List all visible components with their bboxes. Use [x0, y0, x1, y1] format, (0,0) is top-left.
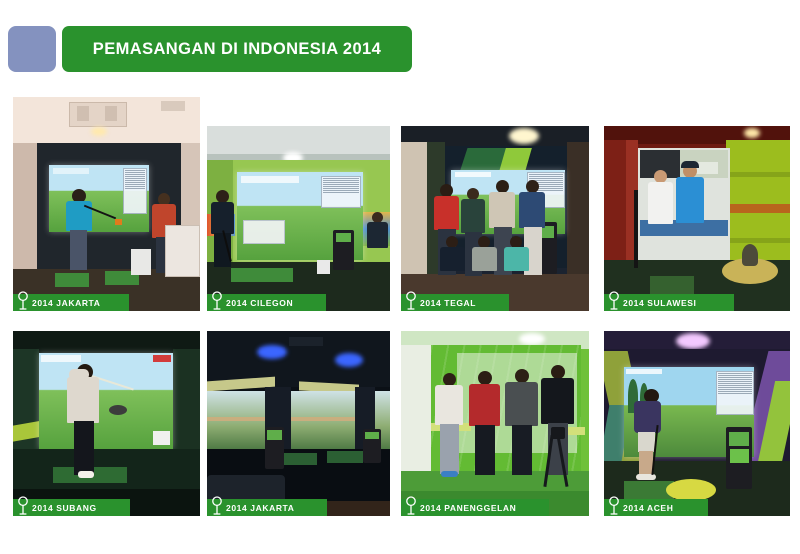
- header-title-bar: PEMASANGAN DI INDONESIA 2014: [62, 26, 412, 72]
- photo-caption-7: 2014 PANENGGELAN: [401, 499, 549, 516]
- photo-image-5: [13, 331, 200, 516]
- photo-caption-label-3: 2014 TEGAL: [420, 298, 476, 308]
- photo-caption-label-4: 2014 SULAWESI: [623, 298, 696, 308]
- photo-caption-3: 2014 TEGAL: [401, 294, 509, 311]
- golf-tee-icon: [608, 496, 620, 515]
- photo-caption-label-6: 2014 JAKARTA: [226, 503, 294, 513]
- photo-caption-label-5: 2014 SUBANG: [32, 503, 97, 513]
- photo-caption-5: 2014 SUBANG: [13, 499, 130, 516]
- golf-tee-icon: [17, 496, 29, 515]
- photo-card-4[interactable]: 2014 SULAWESI: [604, 126, 790, 311]
- photo-caption-1: 2014 JAKARTA: [13, 294, 129, 311]
- photo-card-3[interactable]: 2014 TEGAL: [401, 126, 589, 311]
- photo-image-4: [604, 126, 790, 311]
- photo-card-5[interactable]: 2014 SUBANG: [13, 331, 200, 516]
- photo-card-2[interactable]: 2014 CILEGON: [207, 126, 390, 311]
- photo-caption-4: 2014 SULAWESI: [604, 294, 734, 311]
- photo-caption-label-2: 2014 CILEGON: [226, 298, 293, 308]
- photo-image-2: [207, 126, 390, 311]
- photo-image-6: [207, 331, 390, 516]
- photo-image-3: [401, 126, 589, 311]
- golf-tee-icon: [17, 291, 29, 310]
- golf-tee-icon: [211, 496, 223, 515]
- photo-caption-2: 2014 CILEGON: [207, 294, 326, 311]
- photo-image-7: [401, 331, 589, 516]
- photo-caption-label-8: 2014 ACEH: [623, 503, 673, 513]
- photo-card-1[interactable]: 2014 JAKARTA: [13, 97, 200, 311]
- photo-caption-8: 2014 ACEH: [604, 499, 708, 516]
- photo-image-1: [13, 97, 200, 311]
- photo-image-8: [604, 331, 790, 516]
- photo-card-7[interactable]: 2014 PANENGGELAN: [401, 331, 589, 516]
- page-title: PEMASANGAN DI INDONESIA 2014: [93, 40, 381, 59]
- golf-tee-icon: [405, 496, 417, 515]
- photo-card-6[interactable]: 2014 JAKARTA: [207, 331, 390, 516]
- photo-gallery: 2014 JAKARTA: [0, 88, 800, 538]
- header-badge-square: [8, 26, 56, 72]
- golf-tee-icon: [608, 291, 620, 310]
- photo-card-8[interactable]: 2014 ACEH: [604, 331, 790, 516]
- golf-tee-icon: [405, 291, 417, 310]
- photo-caption-6: 2014 JAKARTA: [207, 499, 327, 516]
- photo-caption-label-7: 2014 PANENGGELAN: [420, 503, 516, 513]
- golf-tee-icon: [211, 291, 223, 310]
- photo-caption-label-1: 2014 JAKARTA: [32, 298, 100, 308]
- page-header: PEMASANGAN DI INDONESIA 2014: [0, 0, 800, 92]
